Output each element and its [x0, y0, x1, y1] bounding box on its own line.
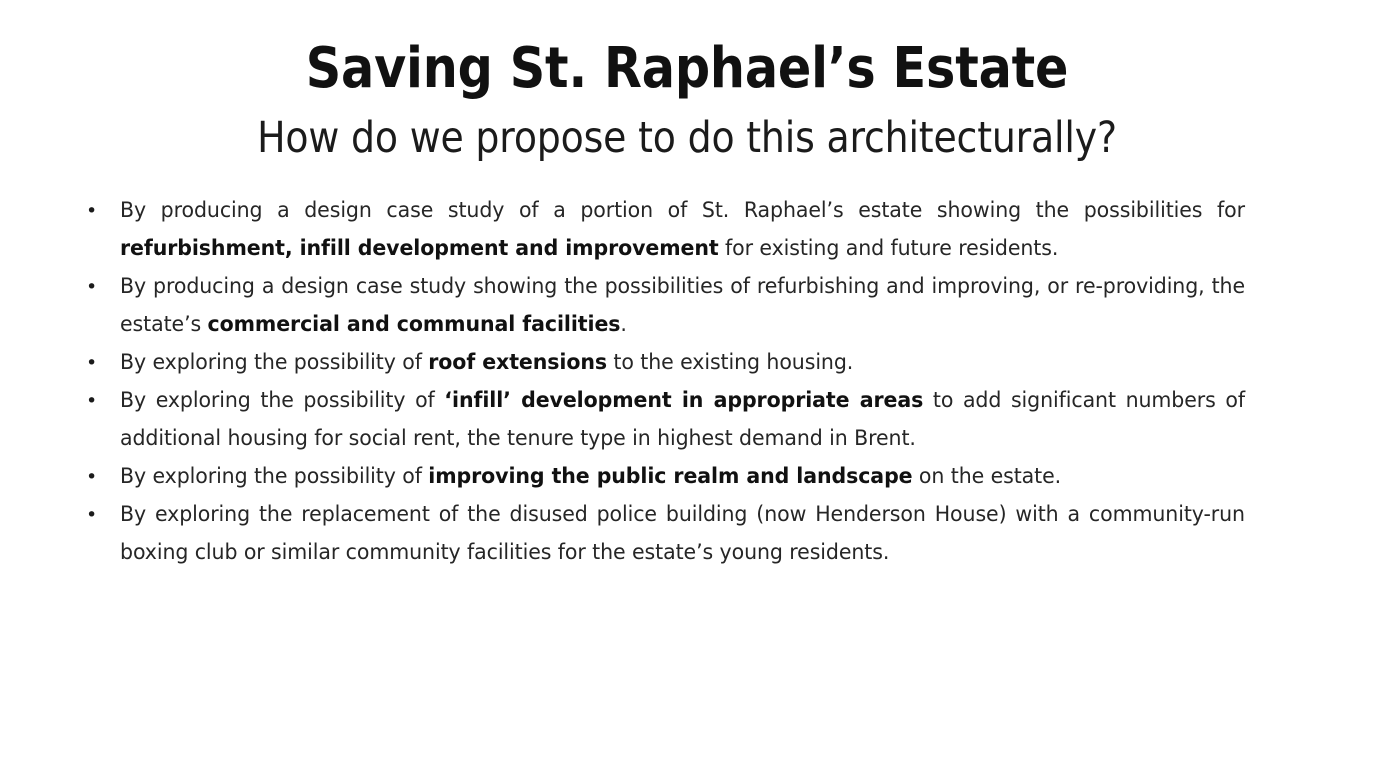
body-text: for existing and future residents.	[719, 236, 1059, 261]
bullet-dot-icon: •	[78, 382, 120, 420]
bullet-dot-icon: •	[78, 496, 120, 534]
list-item: •By producing a design case study showin…	[78, 268, 1298, 344]
bullet-list: •By producing a design case study of a p…	[78, 192, 1298, 572]
title-block: Saving St. Raphael’s Estate How do we pr…	[0, 38, 1374, 164]
page-subtitle: How do we propose to do this architectur…	[82, 112, 1291, 164]
emphasis-text: commercial and communal facilities	[208, 312, 621, 337]
bullet-dot-icon: •	[78, 192, 120, 230]
body-text: on the estate.	[913, 464, 1062, 489]
list-item: •By exploring the possibility of improvi…	[78, 458, 1298, 496]
list-item: •By producing a design case study of a p…	[78, 192, 1298, 268]
bullet-dot-icon: •	[78, 458, 120, 496]
list-item: •By exploring the possibility of roof ex…	[78, 344, 1298, 382]
bullet-commercial-communal-facilities: By producing a design case study showing…	[120, 268, 1245, 344]
bullet-dot-icon: •	[78, 268, 120, 306]
bullet-design-case-study-refurbishment: By producing a design case study of a po…	[120, 192, 1245, 268]
emphasis-text: roof extensions	[428, 350, 607, 375]
bullet-public-realm-landscape: By exploring the possibility of improvin…	[120, 458, 1245, 496]
body-text: By producing a design case study of a po…	[120, 198, 1245, 223]
body-text: to the existing housing.	[607, 350, 853, 375]
body-text: By exploring the replacement of the disu…	[120, 502, 1245, 565]
list-item: •By exploring the replacement of the dis…	[78, 496, 1298, 572]
bullet-dot-icon: •	[78, 344, 120, 382]
bullet-roof-extensions: By exploring the possibility of roof ext…	[120, 344, 1245, 382]
emphasis-text: ‘infill’ development in appropriate area…	[444, 388, 923, 413]
list-item: •By exploring the possibility of ‘infill…	[78, 382, 1298, 458]
body-text: By exploring the possibility of	[120, 388, 444, 413]
emphasis-text: improving the public realm and landscape	[428, 464, 912, 489]
presentation-slide: Saving St. Raphael’s Estate How do we pr…	[0, 0, 1374, 772]
body-text: By exploring the possibility of	[120, 464, 428, 489]
emphasis-text: refurbishment, infill development and im…	[120, 236, 719, 261]
bullet-henderson-house-boxing-club: By exploring the replacement of the disu…	[120, 496, 1245, 572]
page-title: Saving St. Raphael’s Estate	[82, 38, 1291, 100]
bullet-infill-development: By exploring the possibility of ‘infill’…	[120, 382, 1245, 458]
body-text: .	[620, 312, 626, 337]
body-text: By exploring the possibility of	[120, 350, 428, 375]
